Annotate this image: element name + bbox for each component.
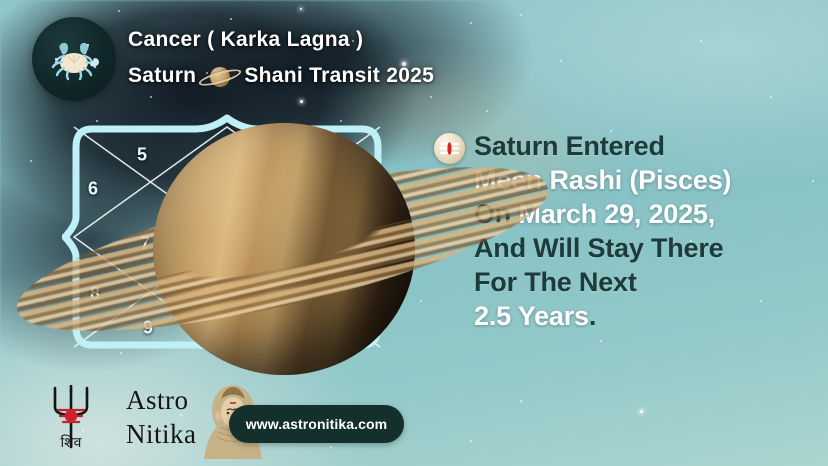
message-line-1: Saturn Entered [474, 129, 814, 163]
cancer-zodiac-badge [32, 17, 116, 101]
star [470, 440, 472, 442]
brand-name-line1: Astro [126, 383, 197, 417]
website-url-pill[interactable]: www.astronitika.com [229, 405, 404, 443]
trishul-devanagari-label: शिव [61, 434, 82, 451]
brand-name: Astro Nitika [126, 383, 197, 451]
message-segment: . [589, 301, 596, 331]
header-line-2-after: Shani Transit 2025 [244, 58, 434, 94]
star [520, 14, 522, 16]
star [520, 400, 522, 402]
header-line-2: Saturn Shani Transit 2025 [128, 58, 434, 94]
house-number-6: 6 [88, 179, 98, 200]
brand-logo: शिव Astro Nitika [36, 381, 226, 459]
header-line-1: Cancer ( Karka Lagna ) [128, 22, 434, 58]
star [486, 110, 488, 112]
message-lines: Saturn EnteredMeen Rashi (Pisces)On Marc… [474, 129, 814, 333]
message-segment: 2.5 Years [474, 301, 589, 331]
message-line-5: For The Next [474, 265, 814, 299]
star [560, 60, 562, 62]
header-line-2-before: Saturn [128, 58, 196, 94]
star [700, 40, 702, 42]
star [300, 8, 302, 10]
star [600, 340, 602, 342]
shiva-tilak-icon [434, 133, 465, 164]
star [470, 22, 472, 24]
message-segment: For The Next [474, 267, 637, 297]
website-url-text: www.astronitika.com [246, 416, 387, 432]
star [330, 446, 332, 448]
header-text-block: Cancer ( Karka Lagna ) Saturn Shani Tran… [128, 22, 434, 94]
saturn-planet-icon [198, 63, 242, 89]
star [230, 18, 232, 20]
message-block: Saturn EnteredMeen Rashi (Pisces)On Marc… [474, 129, 814, 333]
trishul-icon: शिव [36, 385, 106, 457]
poster-canvas: Cancer ( Karka Lagna ) Saturn Shani Tran… [0, 0, 828, 466]
star [30, 160, 32, 162]
message-line-4: And Will Stay There [474, 231, 814, 265]
house-number-5: 5 [137, 145, 147, 166]
cancer-crab-icon [44, 29, 104, 89]
message-segment: Saturn Entered [474, 131, 665, 161]
brand-name-line2: Nitika [126, 417, 197, 451]
star [118, 10, 120, 12]
header-line-1-text: Cancer ( Karka Lagna ) [128, 22, 363, 58]
star [770, 96, 772, 98]
message-segment: March 29, 2025, [518, 199, 715, 229]
message-segment: And Will Stay There [474, 233, 724, 263]
star [640, 410, 643, 413]
message-line-6: 2.5 Years. [474, 299, 814, 333]
